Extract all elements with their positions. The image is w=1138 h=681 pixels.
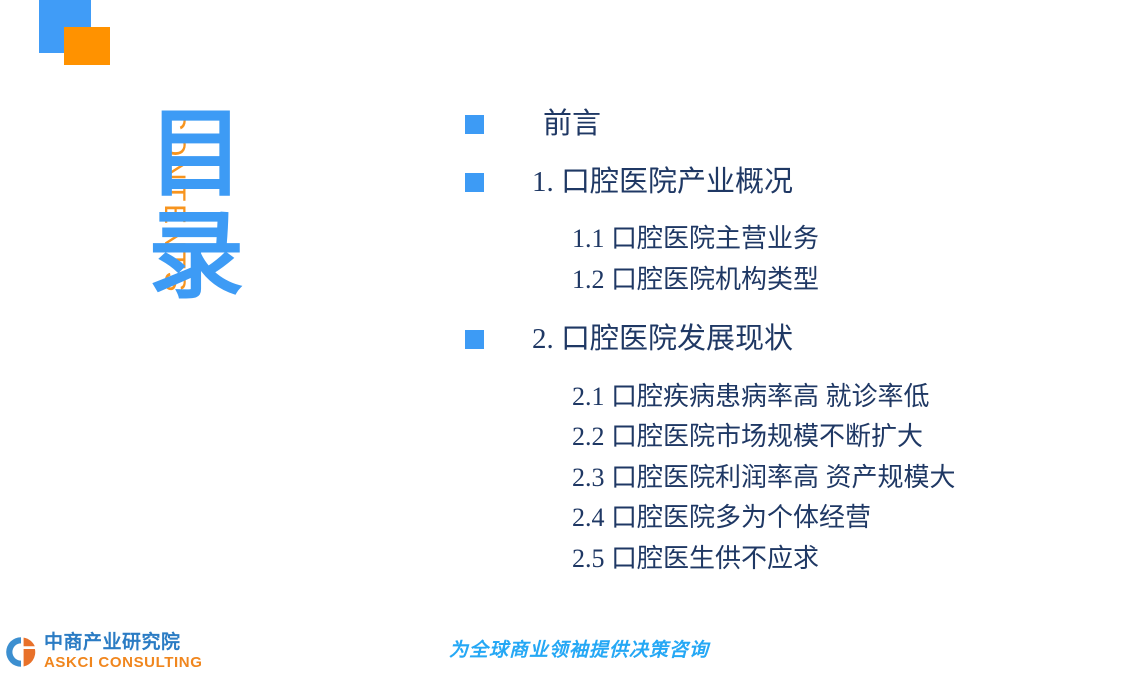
contents-cjk-char-2: 录 [148, 206, 244, 308]
bullet-square-icon [465, 173, 484, 192]
footer-tagline: 为全球商业领袖提供决策咨询 [0, 635, 1138, 662]
slide-title-block: CONTENTS 目 录 [86, 112, 306, 362]
toc-item-2-4[interactable]: 2.4 口腔医院多为个体经营 [572, 498, 1105, 539]
toc-item-2-1[interactable]: 2.1 口腔疾病患病率高 就诊率低 [572, 377, 1105, 418]
contents-cjk-char-1: 目 [148, 104, 244, 206]
toc-item-section-1[interactable]: 1. 口腔医院产业概况 [465, 161, 1105, 205]
toc-item-2-5[interactable]: 2.5 口腔医生供不应求 [572, 539, 1105, 580]
toc-item-label: 2. 口腔医院发展现状 [532, 318, 793, 362]
toc-item-label: 1. 口腔医院产业概况 [532, 161, 793, 205]
toc-item-label: 前言 [543, 103, 601, 147]
toc-item-2-3[interactable]: 2.3 口腔医院利润率高 资产规模大 [572, 458, 1105, 499]
table-of-contents: 前言 1. 口腔医院产业概况 1.1 口腔医院主营业务 1.2 口腔医院机构类型… [465, 103, 1105, 579]
toc-item-1-2[interactable]: 1.2 口腔医院机构类型 [572, 260, 1105, 301]
toc-item-1-1[interactable]: 1.1 口腔医院主营业务 [572, 219, 1105, 260]
bullet-square-icon [465, 115, 484, 134]
toc-item-section-2[interactable]: 2. 口腔医院发展现状 [465, 318, 1105, 362]
decor-square-orange-icon [64, 27, 110, 65]
contents-cjk-title: 目 录 [148, 104, 244, 308]
toc-item-preface[interactable]: 前言 [465, 103, 1105, 147]
bullet-square-icon [465, 330, 484, 349]
presentation-slide: CONTENTS 目 录 前言 1. 口腔医院产业概况 1.1 口腔医院主营业务… [0, 0, 1138, 681]
toc-item-2-2[interactable]: 2.2 口腔医院市场规模不断扩大 [572, 417, 1105, 458]
